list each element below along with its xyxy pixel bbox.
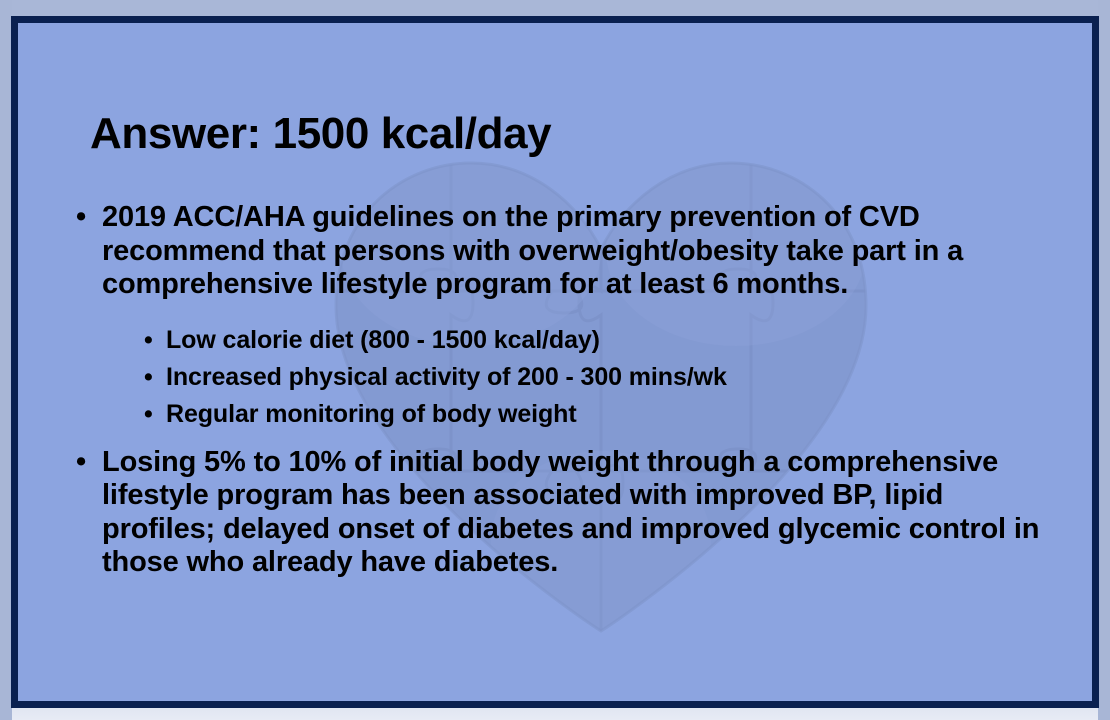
bullet-dot-icon: • — [76, 201, 102, 235]
slide-paper-edge-right — [1098, 0, 1110, 720]
bullet-level2-item: • Regular monitoring of body weight — [144, 400, 1061, 429]
slide-frame-border: Answer: 1500 kcal/day • 2019 ACC/AHA gui… — [11, 16, 1099, 708]
bullet-text: 2019 ACC/AHA guidelines on the primary p… — [102, 201, 1061, 302]
slide-title: Answer: 1500 kcal/day — [90, 109, 551, 159]
bullet-dot-icon: • — [144, 400, 166, 429]
bullet-dot-icon: • — [144, 363, 166, 392]
bullet-level2-item: • Low calorie diet (800 - 1500 kcal/day) — [144, 326, 1061, 355]
spacer — [76, 304, 1061, 318]
bullet-text: Low calorie diet (800 - 1500 kcal/day) — [166, 326, 1061, 355]
bullet-dot-icon: • — [144, 326, 166, 355]
bullet-list: • 2019 ACC/AHA guidelines on the primary… — [76, 201, 1061, 582]
slide-content-area: Answer: 1500 kcal/day • 2019 ACC/AHA gui… — [18, 23, 1092, 701]
bullet-text: Increased physical activity of 200 - 300… — [166, 363, 1061, 392]
bullet-text: Regular monitoring of body weight — [166, 400, 1061, 429]
slide-canvas: Answer: 1500 kcal/day • 2019 ACC/AHA gui… — [0, 0, 1110, 720]
bullet-level1-item: • 2019 ACC/AHA guidelines on the primary… — [76, 201, 1061, 302]
bullet-dot-icon: • — [76, 446, 102, 480]
bullet-level1-item: • Losing 5% to 10% of initial body weigh… — [76, 446, 1061, 580]
spacer — [76, 429, 1061, 446]
bullet-level2-item: • Increased physical activity of 200 - 3… — [144, 363, 1061, 392]
bullet-text: Losing 5% to 10% of initial body weight … — [102, 446, 1061, 580]
